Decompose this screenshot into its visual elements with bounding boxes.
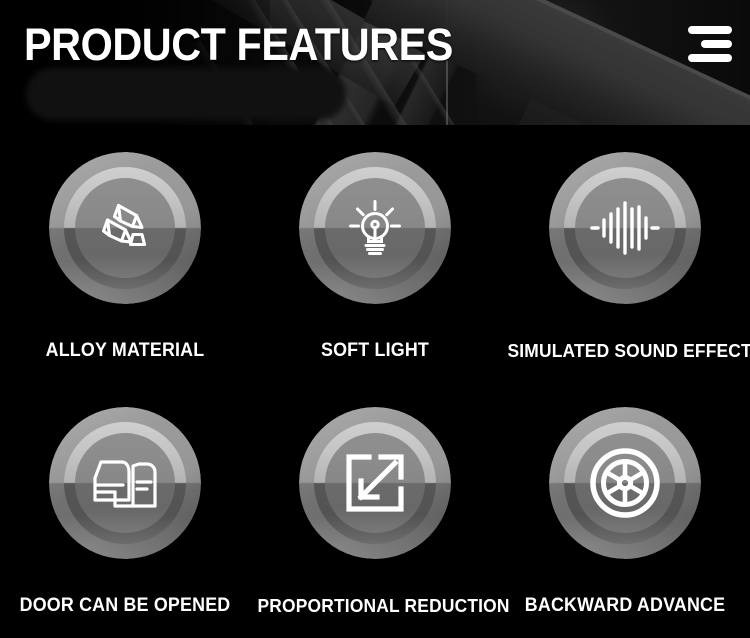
hamburger-menu-button[interactable] bbox=[688, 24, 732, 64]
gold-bars-icon bbox=[94, 197, 156, 259]
badge-inner-disc bbox=[325, 433, 425, 533]
page-title: PRODUCT FEATURES bbox=[24, 18, 453, 72]
feature-item-alloy-material[interactable]: ALLOY MATERIAL bbox=[0, 128, 250, 304]
feature-item-backward-advance[interactable]: BACKWARD ADVANCE bbox=[500, 383, 750, 559]
feature-badge bbox=[49, 407, 201, 559]
hamburger-menu-icon-bar bbox=[701, 40, 732, 48]
feature-item-soft-light[interactable]: SOFT LIGHT bbox=[250, 128, 500, 304]
badge-inner-disc bbox=[75, 178, 175, 278]
scale-resize-icon bbox=[343, 451, 407, 515]
header-redacted-bar bbox=[26, 68, 346, 120]
feature-badge bbox=[49, 152, 201, 304]
feature-label: ALLOY MATERIAL bbox=[8, 340, 243, 362]
feature-badge bbox=[299, 407, 451, 559]
badge-inner-disc bbox=[575, 178, 675, 278]
feature-label: BACKWARD ADVANCE bbox=[508, 595, 743, 617]
feature-label: PROPORTIONAL REDUCTION bbox=[258, 595, 493, 617]
feature-label: SIMULATED SOUND EFFECT bbox=[508, 340, 743, 362]
badge-inner-disc bbox=[575, 433, 675, 533]
hamburger-menu-icon-bar bbox=[688, 54, 732, 62]
features-grid: ALLOY MATERIAL bbox=[0, 128, 750, 638]
feature-item-proportional-reduction[interactable]: PROPORTIONAL REDUCTION bbox=[250, 383, 500, 559]
feature-label: SOFT LIGHT bbox=[258, 340, 493, 362]
badge-inner-disc bbox=[325, 178, 425, 278]
sound-wave-icon bbox=[589, 198, 661, 258]
feature-badge bbox=[299, 152, 451, 304]
page-header: PRODUCT FEATURES bbox=[0, 0, 750, 128]
badge-inner-disc bbox=[75, 433, 175, 533]
car-open-door-icon bbox=[89, 452, 161, 514]
feature-item-simulated-sound-effect[interactable]: SIMULATED SOUND EFFECT bbox=[500, 128, 750, 304]
light-bulb-icon bbox=[343, 196, 407, 260]
hamburger-menu-icon bbox=[688, 26, 732, 34]
feature-item-door-can-be-opened[interactable]: DOOR CAN BE OPENED bbox=[0, 383, 250, 559]
feature-label: DOOR CAN BE OPENED bbox=[8, 595, 243, 617]
feature-badge bbox=[549, 152, 701, 304]
wheel-icon bbox=[589, 447, 661, 519]
product-features-page: PRODUCT FEATURES bbox=[0, 0, 750, 638]
feature-badge bbox=[549, 407, 701, 559]
